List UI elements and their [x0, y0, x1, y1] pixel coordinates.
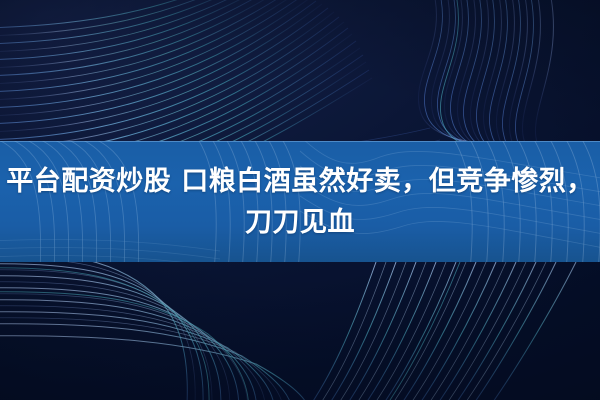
banner-image: 平台配资炒股 口粮白酒虽然好卖，但竞争惨烈， 刀刀见血 — [0, 0, 600, 400]
band-line-texture — [0, 141, 600, 262]
band-top-edge — [0, 141, 600, 142]
headline-band — [0, 141, 600, 262]
